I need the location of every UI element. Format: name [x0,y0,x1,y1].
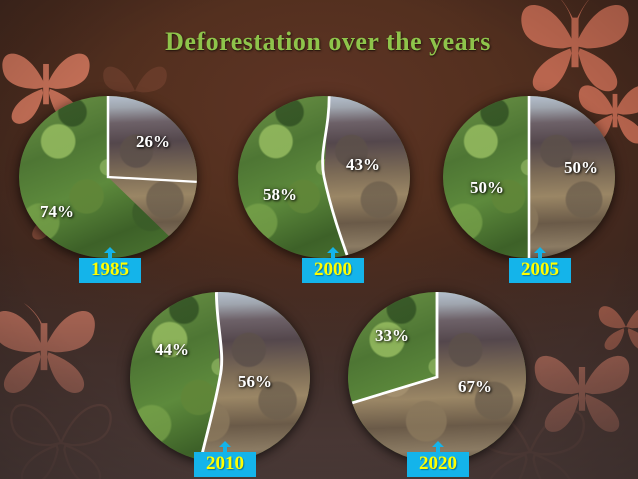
pie-label-forest: 58% [263,185,297,205]
pie-label-deforested: 43% [346,155,380,175]
arrow-up-icon [79,247,141,258]
year-label: 2005 [509,258,571,283]
slide-canvas: Deforestation over the years 74% 26% 198… [0,0,638,479]
pie-chart-2010: 44% 56% [130,292,310,462]
pie-chart-2020: 33% 67% [348,292,526,462]
year-label: 2000 [302,258,364,283]
year-tag-2010[interactable]: 2010 [194,441,256,477]
year-tag-2005[interactable]: 2005 [509,247,571,283]
pie-label-forest: 74% [40,202,74,222]
pie-chart-2000: 58% 43% [238,96,410,258]
year-label: 2010 [194,452,256,477]
year-label: 2020 [407,452,469,477]
arrow-up-icon [407,441,469,452]
pie-chart-2005: 50% 50% [443,96,615,258]
arrow-up-icon [509,247,571,258]
pie-label-deforested: 50% [564,158,598,178]
year-tag-2020[interactable]: 2020 [407,441,469,477]
pie-label-deforested: 26% [136,132,170,152]
pie-label-deforested: 67% [458,377,492,397]
arrow-up-icon [194,441,256,452]
pie-label-forest: 44% [155,340,189,360]
year-label: 1985 [79,258,141,283]
butterfly-icon-bottom-left [0,300,100,400]
page-title: Deforestation over the years [0,27,638,57]
pie-chart-1985: 74% 26% [19,96,197,258]
pie-label-deforested: 56% [238,372,272,392]
year-tag-2000[interactable]: 2000 [302,247,364,283]
pie-label-forest: 50% [470,178,504,198]
butterfly-icon-right-edge [596,300,638,354]
arrow-up-icon [302,247,364,258]
year-tag-1985[interactable]: 1985 [79,247,141,283]
pie-label-forest: 33% [375,326,409,346]
butterfly-icon-bottom-right [530,345,634,439]
butterfly-icon-bottom-left-faint [6,395,116,479]
